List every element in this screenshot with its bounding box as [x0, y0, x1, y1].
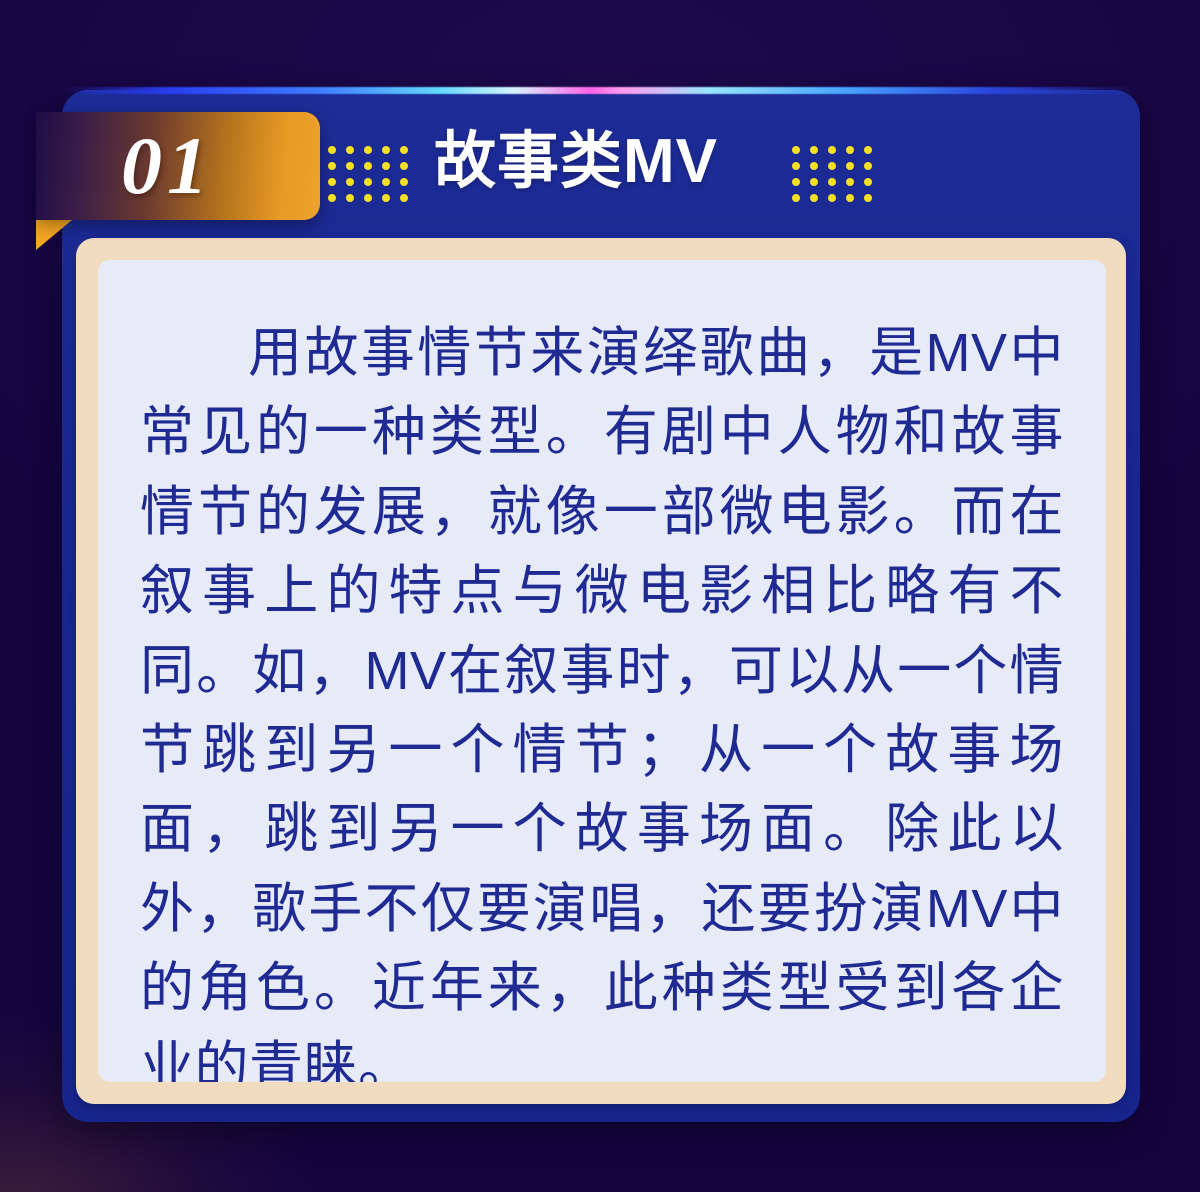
dot [792, 162, 800, 170]
dot [792, 178, 800, 186]
dot [328, 194, 336, 202]
dot [400, 146, 408, 154]
content-panel: 用故事情节来演绎歌曲，是MV中常见的一种类型。有剧中人物和故事情节的发展，就像一… [98, 260, 1106, 1082]
dot [328, 162, 336, 170]
dot [828, 146, 836, 154]
dot [864, 162, 872, 170]
dot [810, 194, 818, 202]
dot-grid-left-icon [328, 146, 408, 202]
ribbon-fold-icon [36, 220, 72, 250]
dot [792, 146, 800, 154]
dot [400, 178, 408, 186]
dot [864, 194, 872, 202]
card-header: 01 [62, 90, 1140, 238]
dot [328, 146, 336, 154]
dot [810, 162, 818, 170]
content-frame: 用故事情节来演绎歌曲，是MV中常见的一种类型。有剧中人物和故事情节的发展，就像一… [76, 238, 1126, 1104]
dot [846, 178, 854, 186]
dot [346, 178, 354, 186]
dot [864, 146, 872, 154]
dot [346, 162, 354, 170]
dot [846, 194, 854, 202]
dot [400, 162, 408, 170]
body-paragraph: 用故事情节来演绎歌曲，是MV中常见的一种类型。有剧中人物和故事情节的发展，就像一… [140, 314, 1064, 1082]
dot [364, 194, 372, 202]
content-card: 01 [62, 90, 1140, 1122]
dot [828, 178, 836, 186]
dot [864, 178, 872, 186]
dot [810, 178, 818, 186]
page-root: 01 [0, 0, 1200, 1192]
dot [846, 162, 854, 170]
section-number-label: 01 [121, 125, 235, 207]
dot [346, 194, 354, 202]
dot [364, 162, 372, 170]
dot [364, 146, 372, 154]
section-number-badge: 01 [36, 112, 320, 220]
dot [846, 146, 854, 154]
dot [382, 194, 390, 202]
dot [792, 194, 800, 202]
dot [346, 146, 354, 154]
dot [382, 146, 390, 154]
dot [810, 146, 818, 154]
dot [828, 162, 836, 170]
dot [828, 194, 836, 202]
dot [328, 178, 336, 186]
dot [364, 178, 372, 186]
dot [382, 162, 390, 170]
dot-grid-right-icon [792, 146, 872, 202]
section-title: 故事类MV [434, 128, 718, 196]
dot [400, 194, 408, 202]
dot [382, 178, 390, 186]
